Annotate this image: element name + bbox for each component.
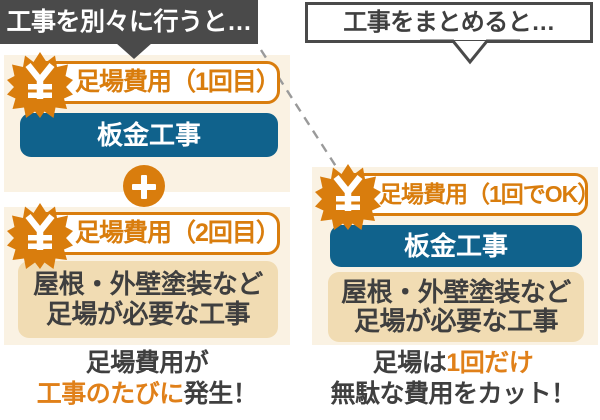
right-card-scaffold-cost-label: 足場費用（1回でOK） bbox=[379, 183, 599, 206]
right-card-detail-line1: 屋根・外壁塗装など bbox=[341, 278, 571, 307]
right-card-work-box: 板金工事 bbox=[330, 225, 582, 267]
left-card2-detail-line1: 屋根・外壁塗装など bbox=[33, 270, 263, 299]
left-caption-line1: 足場費用が bbox=[0, 348, 294, 379]
right-caption-rest: 足場は bbox=[373, 349, 447, 377]
right-caption-highlight: 1回だけ bbox=[446, 349, 533, 377]
right-caption-line1: 足場は1回だけ bbox=[306, 348, 600, 379]
plus-icon bbox=[123, 165, 165, 207]
header-banner-right-pointer-icon bbox=[420, 38, 520, 70]
left-caption: 足場費用が 工事のたびに発生！ bbox=[0, 348, 294, 409]
right-caption: 足場は1回だけ 無駄な費用をカット！ bbox=[306, 348, 600, 409]
left-card2-detail-line2: 足場が必要な工事 bbox=[46, 300, 250, 329]
left-card1-work-label: 板金工事 bbox=[97, 122, 201, 148]
left-card1-work-box: 板金工事 bbox=[20, 113, 278, 157]
header-banner-left-pointer-icon bbox=[116, 43, 152, 59]
left-card1-scaffold-cost-label: 足場費用（1回目） bbox=[75, 70, 280, 95]
left-card2-detail-box: 屋根・外壁塗装など 足場が必要な工事 bbox=[18, 261, 278, 338]
right-card-detail-line2: 足場が必要な工事 bbox=[354, 307, 558, 336]
left-caption-rest: 発生！ bbox=[184, 380, 258, 408]
left-card2-scaffold-cost-label: 足場費用（2回目） bbox=[75, 221, 280, 246]
header-banner-left: 工事を別々に行うと… bbox=[0, 0, 258, 44]
right-card-detail-box: 屋根・外壁塗装など 足場が必要な工事 bbox=[328, 272, 584, 342]
left-caption-line2: 工事のたびに発生！ bbox=[0, 379, 294, 410]
header-banner-left-label: 工事を別々に行うと… bbox=[6, 10, 251, 35]
header-banner-right: 工事をまとめると… bbox=[305, 2, 593, 43]
right-caption-line2: 無駄な費用をカット！ bbox=[306, 379, 600, 410]
yen-starburst-icon bbox=[6, 51, 74, 119]
yen-starburst-icon bbox=[6, 202, 74, 270]
right-card-work-label: 板金工事 bbox=[404, 233, 508, 259]
yen-starburst-icon bbox=[314, 163, 382, 231]
header-banner-right-label: 工事をまとめると… bbox=[343, 11, 555, 35]
diagram-canvas: 工事を別々に行うと… 工事をまとめると… 板金工事 足場費用（1回目） 屋根・外… bbox=[0, 0, 600, 420]
left-caption-highlight: 工事のたびに bbox=[37, 380, 184, 408]
